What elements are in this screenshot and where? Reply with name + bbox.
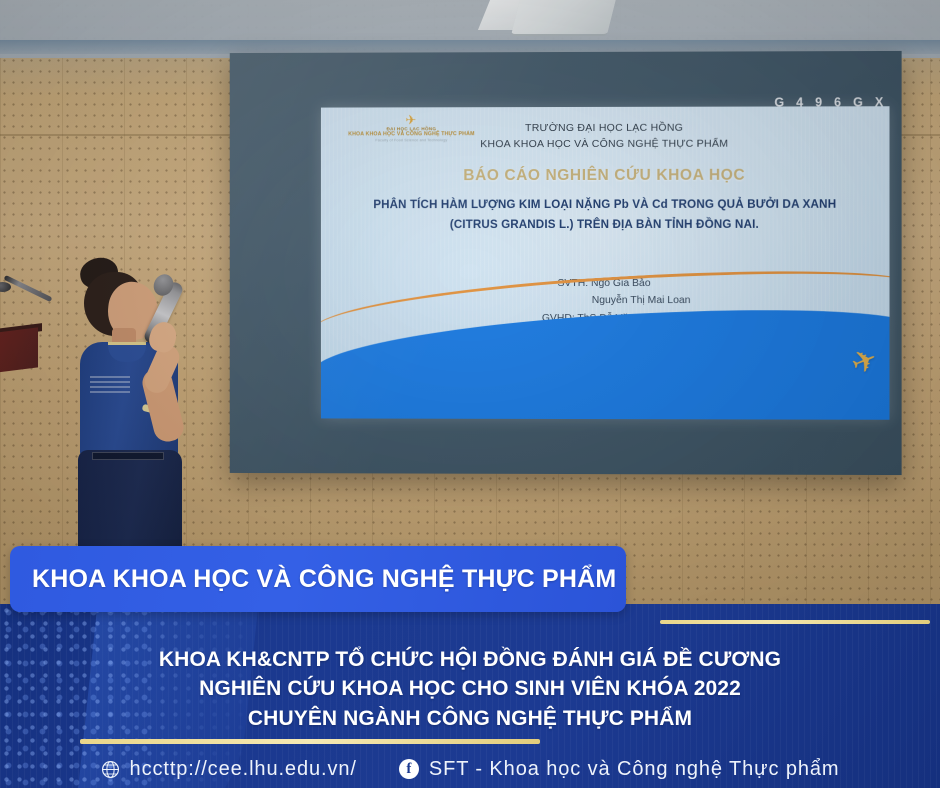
facebook-icon: f xyxy=(399,759,419,779)
slide-topic: PHÂN TÍCH HÀM LƯỢNG KIM LOẠI NẶNG Pb VÀ … xyxy=(355,195,855,235)
banner-footer: hccttp://cee.lhu.edu.vn/ f SFT - Khoa họ… xyxy=(0,752,940,786)
author-line-student-2: Nguyễn Thị Mai Loan xyxy=(321,292,890,310)
faculty-title-pill: KHOA KHOA HỌC VÀ CÔNG NGHỆ THỰC PHẨM xyxy=(10,546,626,612)
logo-line-1: ĐẠI HỌC LẠC HỒNG xyxy=(337,127,486,132)
faculty-title-text: KHOA KHOA HỌC VÀ CÔNG NGHỆ THỰC PHẨM xyxy=(10,565,616,594)
slide-bird-icon: ✈ xyxy=(847,344,882,381)
presenter-belt xyxy=(92,452,164,460)
slide-authors: SVTH: Ngô Gia Bảo Nguyễn Thị Mai Loan GV… xyxy=(321,275,890,345)
headline-line-1: KHOA KH&CNTP TỔ CHỨC HỘI ĐỒNG ĐÁNH GIÁ Đ… xyxy=(0,645,940,674)
gold-rule-left xyxy=(80,739,540,744)
presentation-slide: ✈ ĐẠI HỌC LẠC HỒNG KHOA KHOA HỌC VÀ CÔNG… xyxy=(321,106,890,420)
screenshot-root: G 4 9 6 G X ✈ ĐẠI HỌC LẠC HỒNG KHOA KHOA… xyxy=(0,0,940,788)
headline-line-2: NGHIÊN CỨU KHOA HỌC CHO SINH VIÊN KHÓA 2… xyxy=(0,674,940,703)
event-headline: KHOA KH&CNTP TỔ CHỨC HỘI ĐỒNG ĐÁNH GIÁ Đ… xyxy=(0,645,940,733)
podium xyxy=(0,327,38,372)
facebook-link[interactable]: f SFT - Khoa học và Công nghệ Thực phẩm xyxy=(399,758,840,781)
slide-main-title: BÁO CÁO NGHIÊN CỨU KHOA HỌC xyxy=(321,167,890,186)
globe-icon xyxy=(101,760,120,779)
headline-line-3: CHUYÊN NGÀNH CÔNG NGHỆ THỰC PHẨM xyxy=(0,704,940,733)
ceiling-vent-icon xyxy=(511,0,617,36)
projection-screen: G 4 9 6 G X ✈ ĐẠI HỌC LẠC HỒNG KHOA KHOA… xyxy=(230,51,902,475)
watermark-code: G 4 9 6 G X xyxy=(774,95,887,109)
presenter-shirt-print xyxy=(90,376,130,394)
facebook-page-name: SFT - Khoa học và Công nghệ Thực phẩm xyxy=(429,758,840,781)
slide-wave-gold-line xyxy=(321,259,890,414)
author-line-advisor-2: PGS.TS.Đinh Văn Phúc xyxy=(321,327,890,345)
slide-header-line-1: TRƯỜNG ĐẠI HỌC LẠC HỒNG xyxy=(321,120,890,137)
slide-header: TRƯỜNG ĐẠI HỌC LẠC HỒNG KHOA KHOA HỌC VÀ… xyxy=(321,120,890,153)
slide-wave-blue xyxy=(321,298,890,420)
author-line-gvhd: GVHD: ThS.Đỗ Văn Thuận xyxy=(321,309,890,327)
slide-wave-base xyxy=(321,367,890,420)
slide-header-line-2: KHOA KHOA HỌC VÀ CÔNG NGHỆ THỰC PHẨM xyxy=(321,136,890,153)
website-url: hccttp://cee.lhu.edu.vn/ xyxy=(130,758,357,781)
website-link[interactable]: hccttp://cee.lhu.edu.vn/ xyxy=(101,758,357,781)
gold-rule-right xyxy=(660,620,930,624)
projector-glow xyxy=(321,106,890,420)
conference-photo: G 4 9 6 G X ✈ ĐẠI HỌC LẠC HỒNG KHOA KHOA… xyxy=(0,0,940,604)
logo-bird-icon: ✈ xyxy=(337,113,486,127)
logo-line-2: KHOA KHOA HỌC VÀ CÔNG NGHỆ THỰC PHẨM xyxy=(337,133,486,139)
author-line-svth: SVTH: Ngô Gia Bảo xyxy=(321,275,890,292)
logo-line-3: Faculty of Food Science and Technology xyxy=(337,139,486,143)
university-logo: ✈ ĐẠI HỌC LẠC HỒNG KHOA KHOA HỌC VÀ CÔNG… xyxy=(337,113,486,143)
